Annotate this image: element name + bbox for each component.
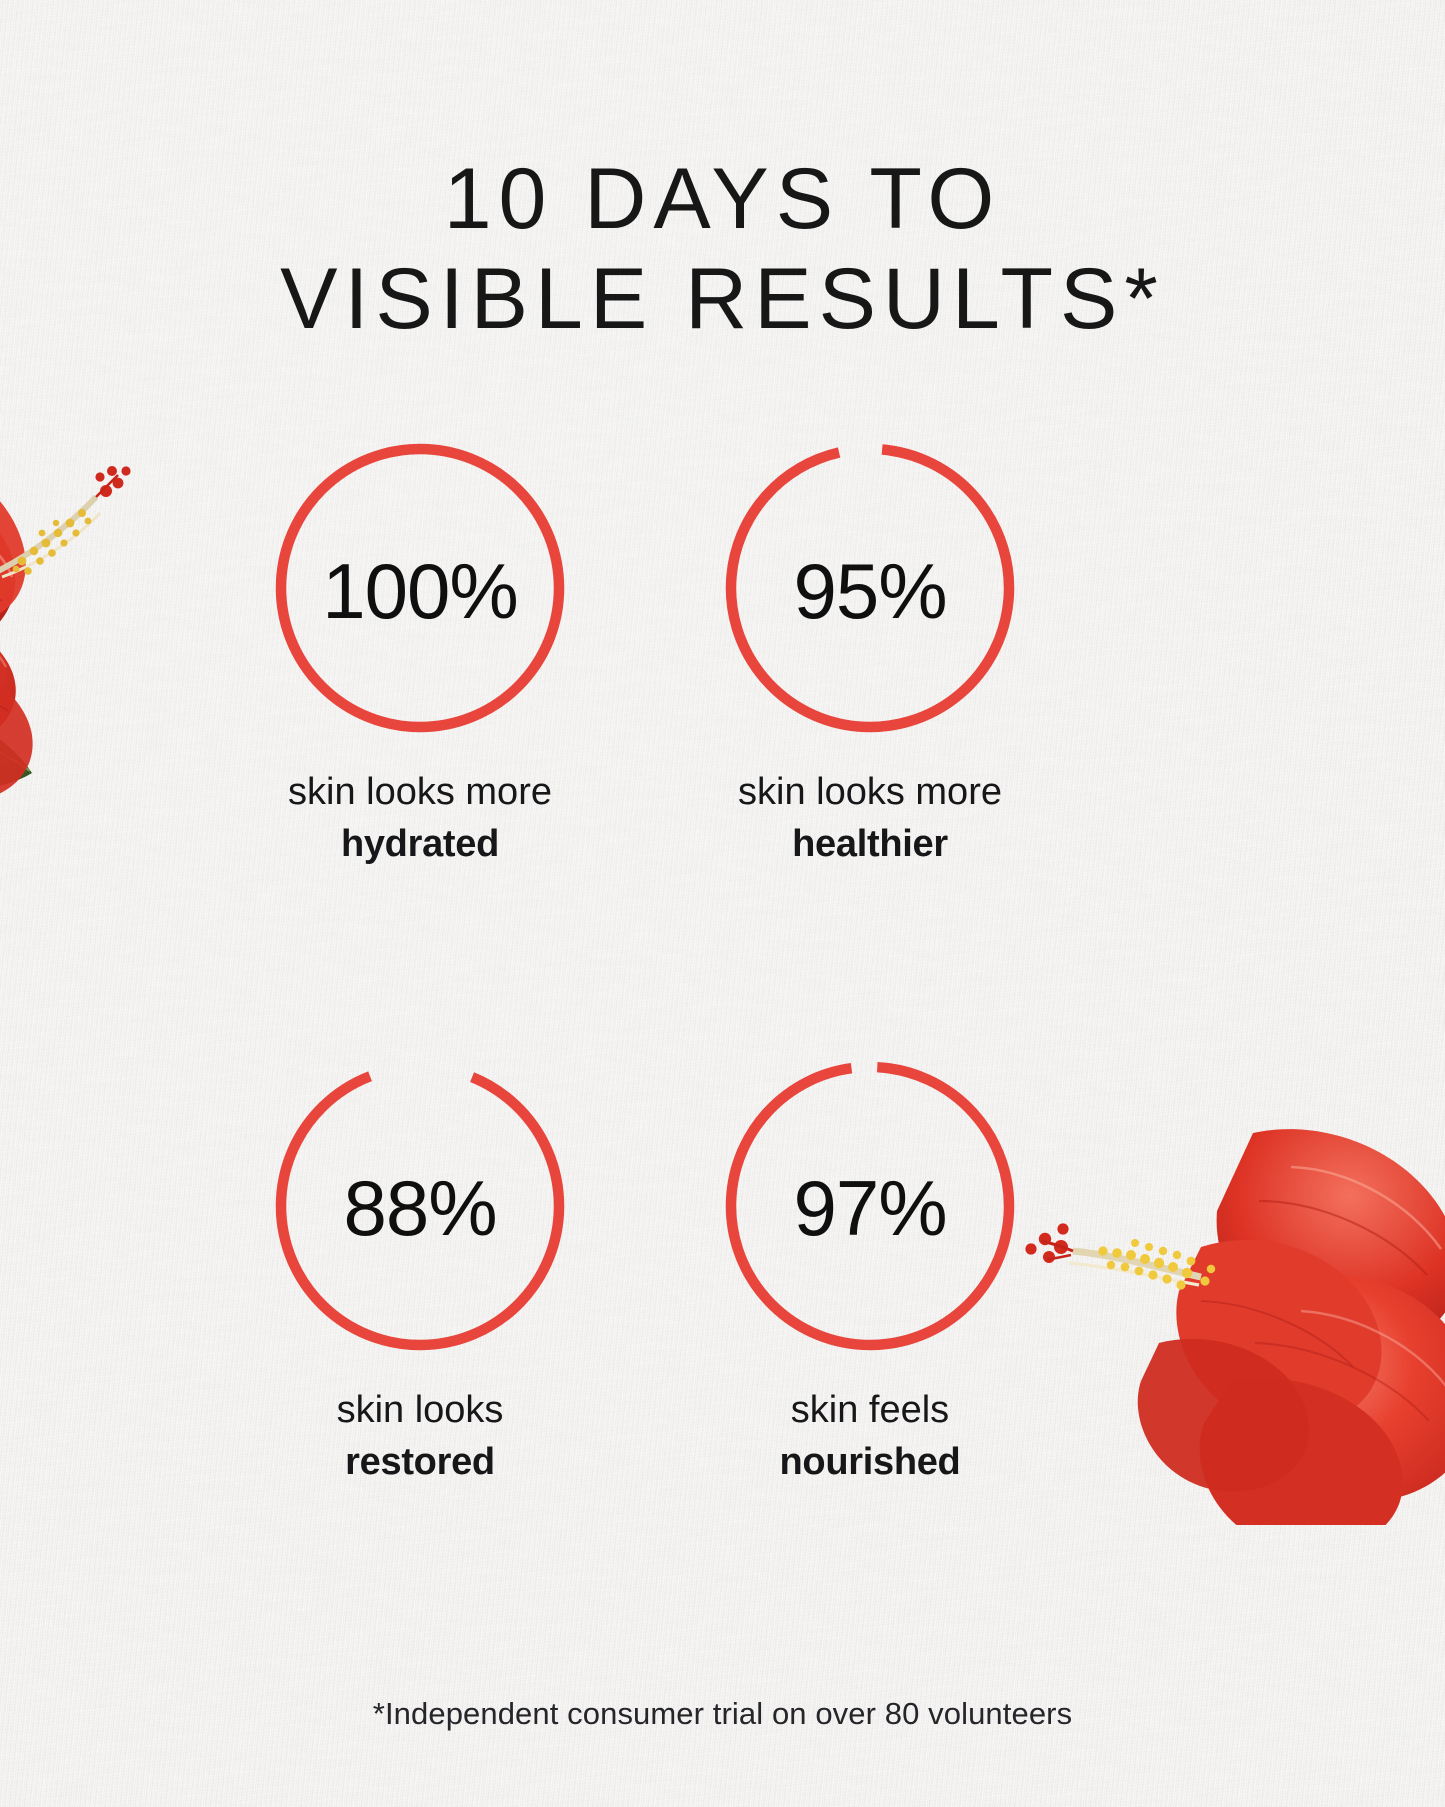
stat-caption-healthier: skin looks more healthier [738, 766, 1002, 871]
footnote-disclaimer: *Independent consumer trial on over 80 v… [0, 1696, 1445, 1732]
statistics-grid: 100% skin looks more hydrated 95% skin l… [195, 438, 1095, 1489]
stat-value-nourished: 97% [720, 1056, 1020, 1356]
stat-value-hydrated: 100% [270, 438, 570, 738]
page-title-line-1: 10 DAYS TO [0, 150, 1445, 250]
progress-ring-healthier: 95% [720, 438, 1020, 738]
stat-value-healthier: 95% [720, 438, 1020, 738]
stat-caption-bold-restored: restored [337, 1436, 504, 1488]
stat-caption-light-nourished: skin feels [791, 1389, 949, 1431]
stat-caption-hydrated: skin looks more hydrated [288, 766, 552, 871]
stat-card-hydrated: 100% skin looks more hydrated [195, 438, 645, 871]
stat-caption-bold-nourished: nourished [780, 1436, 961, 1488]
stat-caption-light-hydrated: skin looks more [288, 771, 552, 813]
stat-caption-restored: skin looks restored [337, 1384, 504, 1489]
stat-card-restored: 88% skin looks restored [195, 1056, 645, 1489]
stat-caption-bold-healthier: healthier [738, 818, 1002, 870]
row-spacer [195, 871, 1095, 1056]
progress-ring-restored: 88% [270, 1056, 570, 1356]
page-title-line-2: VISIBLE RESULTS* [0, 250, 1445, 350]
stat-value-restored: 88% [270, 1056, 570, 1356]
stat-caption-light-restored: skin looks [337, 1389, 504, 1431]
stat-caption-bold-hydrated: hydrated [288, 818, 552, 870]
progress-ring-hydrated: 100% [270, 438, 570, 738]
stat-caption-nourished: skin feels nourished [780, 1384, 961, 1489]
stat-card-healthier: 95% skin looks more healthier [645, 438, 1095, 871]
stat-caption-light-healthier: skin looks more [738, 771, 1002, 813]
statistics-row-2: 88% skin looks restored 97% skin feels [195, 1056, 1095, 1489]
stat-card-nourished: 97% skin feels nourished [645, 1056, 1095, 1489]
progress-ring-nourished: 97% [720, 1056, 1020, 1356]
statistics-row-1: 100% skin looks more hydrated 95% skin l… [195, 438, 1095, 871]
page-title: 10 DAYS TO VISIBLE RESULTS* [0, 150, 1445, 350]
